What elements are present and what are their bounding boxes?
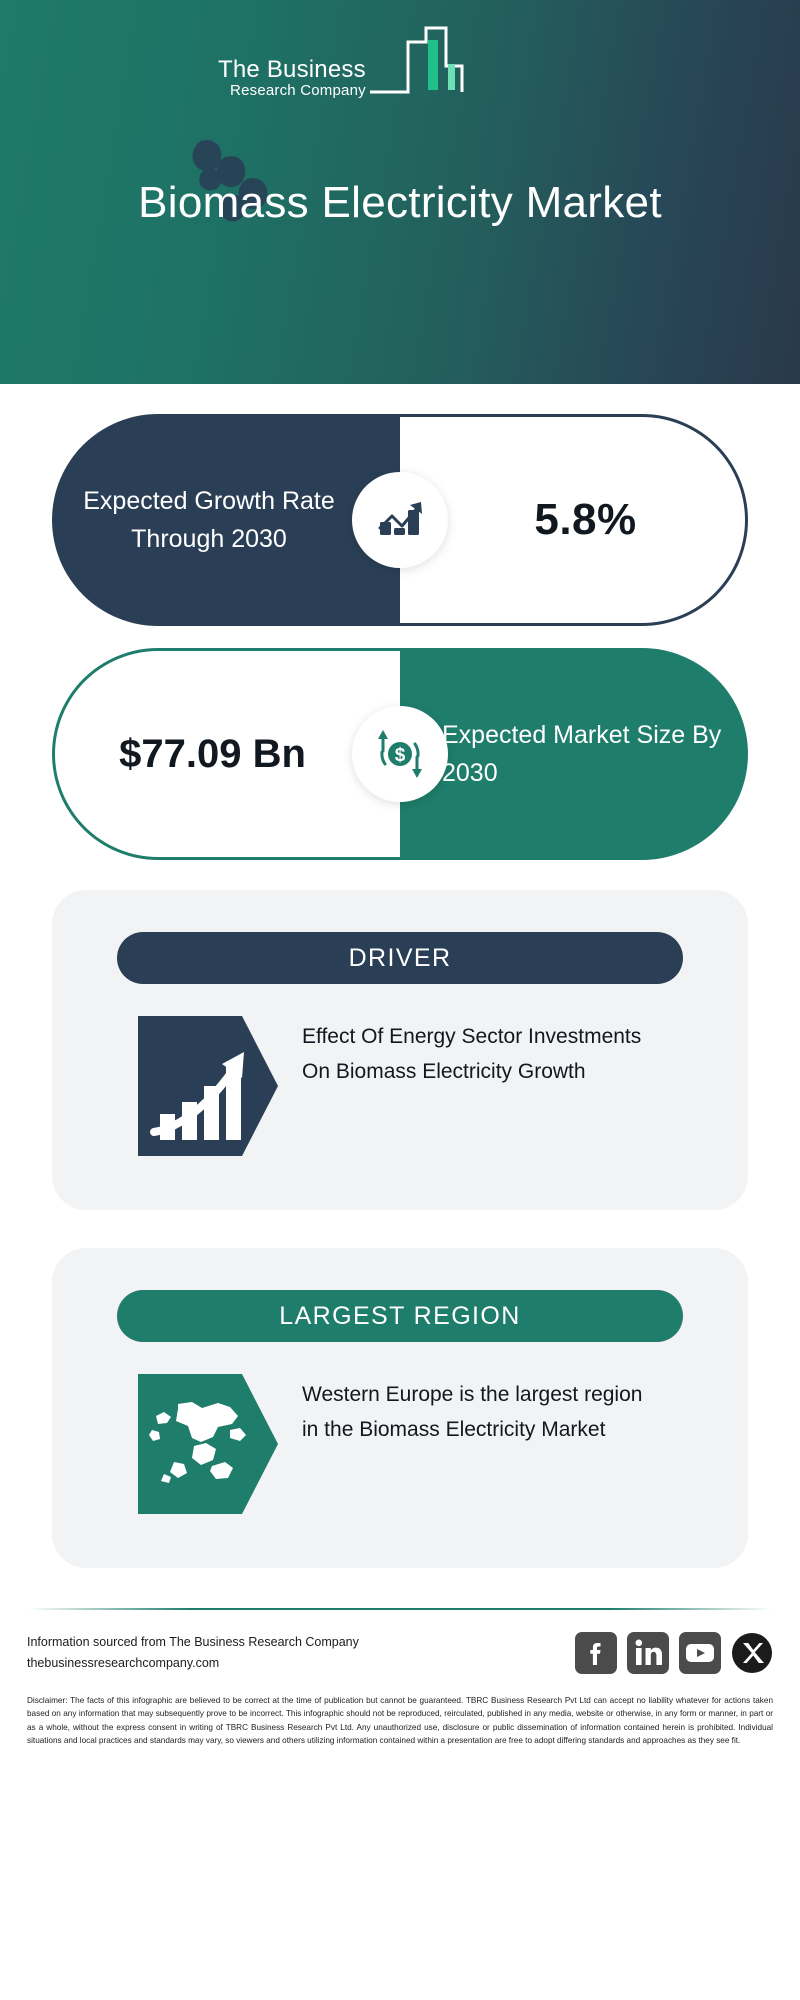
facebook-icon[interactable] <box>575 1632 617 1674</box>
footer-source: Information sourced from The Business Re… <box>27 1632 359 1673</box>
infographic-page: The Business Research Company <box>0 0 800 2000</box>
stat-value: 5.8% <box>508 495 636 545</box>
largest-region-panel: LARGEST REGION Weste <box>52 1248 748 1568</box>
driver-heading: DRIVER <box>117 932 683 984</box>
stat-cards: Expected Growth Rate Through 2030 5.8% $… <box>0 414 800 860</box>
logo-line-1: The Business <box>218 57 366 82</box>
stat-value: $77.09 Bn <box>119 727 336 781</box>
youtube-icon[interactable] <box>679 1632 721 1674</box>
largest-region-text: Western Europe is the largest region in … <box>288 1374 660 1447</box>
largest-region-heading: LARGEST REGION <box>117 1290 683 1342</box>
svg-text:$: $ <box>395 745 406 766</box>
stat-label-block: Expected Growth Rate Through 2030 <box>52 414 400 626</box>
logo-bar-chart-icon <box>368 22 464 101</box>
disclaimer-text: Disclaimer: The facts of this infographi… <box>27 1694 773 1747</box>
page-title: Biomass Electricity Market <box>0 178 800 228</box>
x-twitter-icon[interactable] <box>731 1632 773 1674</box>
dollar-circular-arrows-icon: $ <box>352 706 448 802</box>
linkedin-icon[interactable] <box>627 1632 669 1674</box>
stat-label: Expected Growth Rate Through 2030 <box>52 482 400 558</box>
logo-wordmark: The Business Research Company <box>218 57 366 103</box>
footer: Information sourced from The Business Re… <box>0 1608 800 1747</box>
social-links <box>575 1632 773 1674</box>
growth-chart-arrow-icon <box>138 1016 288 1161</box>
company-logo: The Business Research Company <box>218 22 464 103</box>
footer-source-line-1: Information sourced from The Business Re… <box>27 1632 359 1653</box>
stat-value-block: 5.8% <box>400 414 748 626</box>
largest-region-body: Western Europe is the largest region in … <box>52 1374 748 1519</box>
stat-value-block: $77.09 Bn <box>52 648 400 860</box>
stat-label-block: Expected Market Size By 2030 <box>400 648 748 860</box>
stat-label: Expected Market Size By 2030 <box>400 716 748 792</box>
driver-body: Effect Of Energy Sector Investments On B… <box>52 1016 748 1161</box>
footer-source-line-2[interactable]: thebusinessresearchcompany.com <box>27 1653 359 1674</box>
stat-card-growth-rate: Expected Growth Rate Through 2030 5.8% <box>52 414 748 626</box>
driver-panel: DRIVER Effect Of Energy Sector Investmen… <box>52 890 748 1210</box>
driver-text: Effect Of Energy Sector Investments On B… <box>288 1016 660 1089</box>
logo-line-2: Research Company <box>218 82 366 99</box>
header-banner: The Business Research Company <box>0 0 800 384</box>
europe-map-icon <box>138 1374 288 1519</box>
bar-chart-growth-arrow-icon <box>352 472 448 568</box>
stat-card-market-size: $77.09 Bn Expected Market Size By 2030 $ <box>52 648 748 860</box>
footer-main: Information sourced from The Business Re… <box>27 1632 773 1674</box>
footer-divider <box>27 1608 773 1610</box>
